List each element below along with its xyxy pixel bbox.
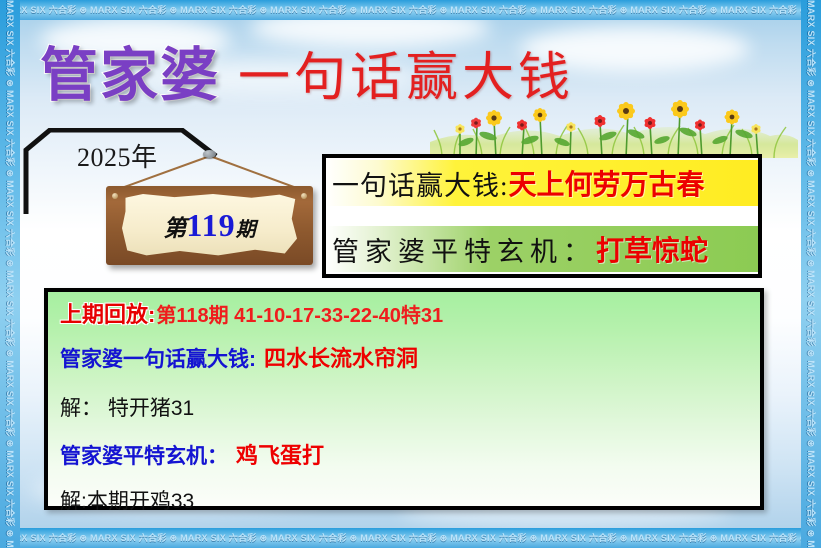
header-title: 管家婆 一句话赢大钱 [40,28,574,112]
board-screw-left-icon [112,193,118,199]
border-top-text: MARX SIX 六合彩 ⊛ MARX SIX 六合彩 ⊛ MARX SIX 六… [0,6,821,15]
replay-value: 第118期 41-10-17-33-22-40特31 [156,306,443,326]
border-right-decoration: MARX SIX 六合彩 ⊛ MARX SIX 六合彩 ⊛ MARX SIX 六… [801,0,821,548]
replay-label: 上期回放: [60,304,155,326]
border-left-text: MARX SIX 六合彩 ⊛ MARX SIX 六合彩 ⊛ MARX SIX 六… [0,0,20,548]
border-top-decoration: MARX SIX 六合彩 ⊛ MARX SIX 六合彩 ⊛ MARX SIX 六… [0,0,821,20]
banner-row-omen: 管家婆平特玄机： 打草惊蛇 [326,226,758,272]
issue-plaque: 2025年 第119期 [22,128,322,288]
board-screw-right-icon [301,193,307,199]
omen-value: 鸡飞蛋打 [236,445,324,467]
brand-logo-text: 管家婆 [40,28,220,112]
header-slogan: 一句话赢大钱 [238,35,574,110]
hanging-nail-icon [203,150,216,158]
prediction-banner-frame: 一句话赢大钱: 天上何劳万古春 管家婆平特玄机： 打草惊蛇 [322,154,762,278]
phrase-line: 管家婆一句话赢大钱: 四水长流水帘洞 [60,348,760,370]
border-left-decoration: MARX SIX 六合彩 ⊛ MARX SIX 六合彩 ⊛ MARX SIX 六… [0,0,20,548]
phrase-answer-line: 解： 特开猪31 [60,398,760,419]
issue-number-text: 第119期 [163,209,255,241]
phrase-label: 管家婆一句话赢大钱: [60,349,256,370]
banner-phrase-value: 天上何劳万古春 [509,163,705,203]
border-bottom-decoration: MARX SIX 六合彩 ⊛ MARX SIX 六合彩 ⊛ MARX SIX 六… [0,528,821,548]
last-issue-replay-line: 上期回放: 第118期 41-10-17-33-22-40特31 [60,304,760,326]
border-right-text: MARX SIX 六合彩 ⊛ MARX SIX 六合彩 ⊛ MARX SIX 六… [801,0,821,548]
banner-phrase-label: 一句话赢大钱: [332,164,509,203]
page-canvas: 管家婆 一句话赢大钱 [0,0,821,548]
border-bottom-text: MARX SIX 六合彩 ⊛ MARX SIX 六合彩 ⊛ MARX SIX 六… [0,534,821,543]
wooden-board: 第119期 [106,186,313,265]
banner-omen-value: 打草惊蛇 [596,229,708,269]
banner-omen-label: 管家婆平特玄机： [332,230,596,269]
banner-row-phrase: 一句话赢大钱: 天上何劳万古春 [326,160,758,206]
results-content-box: 上期回放: 第118期 41-10-17-33-22-40特31 管家婆一句话赢… [44,288,764,510]
phrase-value: 四水长流水帘洞 [264,348,418,370]
issue-suffix: 期 [236,219,256,241]
issue-prefix: 第 [163,216,186,241]
omen-line: 管家婆平特玄机： 鸡飞蛋打 [60,445,760,467]
omen-answer-line: 解:本期开鸡33 [60,491,760,512]
phrase-answer: 解： 特开猪31 [60,398,194,419]
issue-paper: 第119期 [122,194,297,256]
omen-answer: 解:本期开鸡33 [60,491,194,512]
omen-label: 管家婆平特玄机： [60,446,228,467]
issue-number: 119 [186,207,235,243]
